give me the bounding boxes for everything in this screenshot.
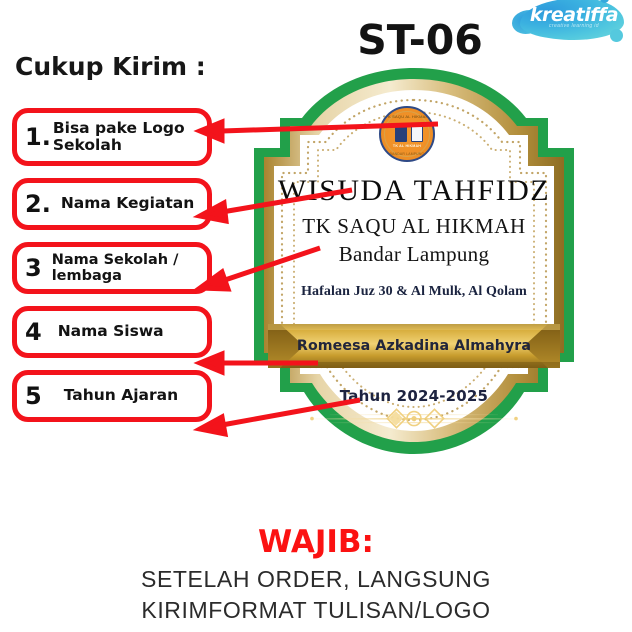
certificate-city: Bandar Lampung <box>238 242 590 267</box>
certificate-title: WISUDA TAHFIDZ <box>238 174 590 208</box>
list-item[interactable]: 2. Nama Kegiatan <box>12 178 212 230</box>
requirements-list: 1. Bisa pake Logo Sekolah 2. Nama Kegiat… <box>12 108 212 434</box>
step-number: 1. <box>25 125 51 149</box>
step-number: 5 <box>25 384 42 408</box>
certificate-detail: Hafalan Juz 30 & Al Mulk, Al Qolam <box>238 284 590 300</box>
seal-mid-text: TK AL HIKMAH <box>381 144 433 148</box>
product-code: ST-06 <box>330 16 510 64</box>
student-name-banner: Romeesa Azkadina Almahyra <box>280 322 548 370</box>
step-label: Nama Kegiatan <box>61 195 194 212</box>
certificate-school: TK SAQU AL HIKMAH <box>238 214 590 239</box>
list-item[interactable]: 1. Bisa pake Logo Sekolah <box>12 108 212 166</box>
kreatiffa-logo: kreatiffa creative learning id <box>512 0 630 52</box>
footer-line-1: SETELAH ORDER, LANGSUNG <box>0 566 632 593</box>
wajib-heading: WAJIB: <box>0 524 632 560</box>
seal-bottom-text: BANDAR LAMPUNG <box>381 152 433 156</box>
step-label: Nama Sekolah / lembaga <box>52 252 201 284</box>
seal-top-text: TK SAQU AL HIKMAH <box>381 114 433 119</box>
list-item[interactable]: 4 Nama Siswa <box>12 306 212 358</box>
logo-dot-large <box>610 29 623 42</box>
step-label: Nama Siswa <box>58 323 164 340</box>
instructions-heading: Cukup Kirim : <box>15 52 206 81</box>
book-page-left <box>395 126 407 142</box>
list-item[interactable]: 3 Nama Sekolah / lembaga <box>12 242 212 294</box>
footer-line-2: KIRIMFORMAT TULISAN/LOGO <box>0 597 632 624</box>
book-icon <box>395 126 423 143</box>
book-page-right <box>411 126 423 142</box>
step-number: 4 <box>25 320 42 344</box>
certificate-preview[interactable]: TK SAQU AL HIKMAH TK AL HIKMAH BANDAR LA… <box>238 62 590 462</box>
step-number: 3 <box>25 256 42 280</box>
academic-year: Tahun 2024-2025 <box>238 387 590 405</box>
school-seal-logo: TK SAQU AL HIKMAH TK AL HIKMAH BANDAR LA… <box>379 106 435 162</box>
student-name: Romeesa Azkadina Almahyra <box>280 338 548 354</box>
step-label: Bisa pake Logo Sekolah <box>53 120 201 155</box>
logo-tagline: creative learning id <box>532 23 616 29</box>
poster-root: kreatiffa creative learning id ST-06 Cuk… <box>0 0 632 632</box>
step-label: Tahun Ajaran <box>64 387 178 404</box>
list-item[interactable]: 5 Tahun Ajaran <box>12 370 212 422</box>
step-number: 2. <box>25 192 51 216</box>
